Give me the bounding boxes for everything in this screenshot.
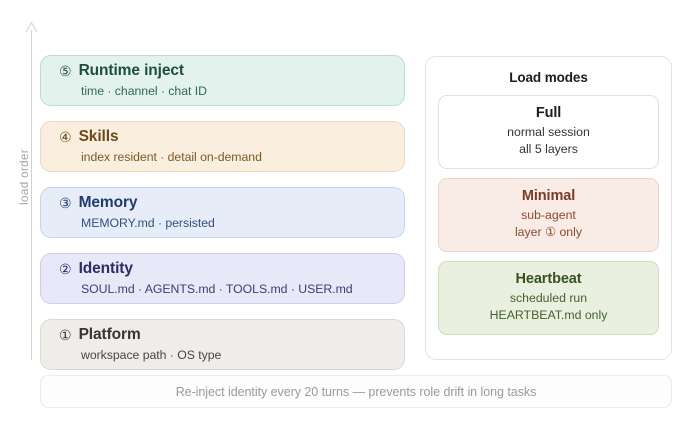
- layers-list: ⑤ Runtime inject time · channel · chat I…: [40, 55, 405, 385]
- load-order-axis: load order: [10, 22, 44, 360]
- layer-title: Skills: [79, 129, 119, 145]
- layer-subtitle: workspace path · OS type: [81, 348, 404, 362]
- layer-subtitle: time · channel · chat ID: [81, 84, 404, 98]
- layer-card-identity[interactable]: ② Identity SOUL.md · AGENTS.md · TOOLS.m…: [40, 253, 405, 304]
- layer-stack-diagram: load order ⑤ Runtime inject time · chann…: [0, 0, 690, 425]
- layer-header: ① Platform: [59, 327, 404, 343]
- arrow-up-icon: [25, 22, 38, 33]
- mode-title: Full: [439, 105, 658, 121]
- mode-line-2: all 5 layers: [439, 142, 658, 156]
- layer-number-badge: ⑤: [59, 64, 72, 78]
- layer-card-runtime-inject[interactable]: ⑤ Runtime inject time · channel · chat I…: [40, 55, 405, 106]
- mode-card-minimal[interactable]: Minimal sub-agent layer ① only: [438, 178, 659, 252]
- axis-line: [31, 30, 32, 360]
- mode-line-1: sub-agent: [439, 208, 658, 222]
- footer-note-text: Re-inject identity every 20 turns — prev…: [176, 385, 537, 399]
- layer-subtitle: MEMORY.md · persisted: [81, 216, 404, 230]
- layer-card-skills[interactable]: ④ Skills index resident · detail on-dema…: [40, 121, 405, 172]
- mode-card-full[interactable]: Full normal session all 5 layers: [438, 95, 659, 169]
- mode-line-1: scheduled run: [439, 291, 658, 305]
- layer-title: Memory: [79, 195, 138, 211]
- load-modes-list: Full normal session all 5 layers Minimal…: [426, 95, 671, 335]
- layer-header: ④ Skills: [59, 129, 404, 145]
- layer-subtitle: SOUL.md · AGENTS.md · TOOLS.md · USER.md: [81, 282, 404, 296]
- mode-line-2: layer ① only: [439, 225, 658, 239]
- layer-header: ③ Memory: [59, 195, 404, 211]
- footer-note: Re-inject identity every 20 turns — prev…: [40, 375, 672, 408]
- mode-card-heartbeat[interactable]: Heartbeat scheduled run HEARTBEAT.md onl…: [438, 261, 659, 335]
- layer-title: Identity: [79, 261, 133, 277]
- layer-title: Platform: [79, 327, 141, 343]
- layer-number-badge: ③: [59, 196, 72, 210]
- layer-header: ② Identity: [59, 261, 404, 277]
- mode-title: Minimal: [439, 188, 658, 204]
- layer-number-badge: ①: [59, 328, 72, 342]
- layer-header: ⑤ Runtime inject: [59, 63, 404, 79]
- axis-label: load order: [17, 117, 31, 237]
- load-modes-title: Load modes: [426, 70, 671, 85]
- layer-number-badge: ④: [59, 130, 72, 144]
- mode-title: Heartbeat: [439, 271, 658, 287]
- layer-card-memory[interactable]: ③ Memory MEMORY.md · persisted: [40, 187, 405, 238]
- layer-number-badge: ②: [59, 262, 72, 276]
- mode-line-1: normal session: [439, 125, 658, 139]
- layer-subtitle: index resident · detail on-demand: [81, 150, 404, 164]
- load-modes-panel: Load modes Full normal session all 5 lay…: [425, 56, 672, 360]
- mode-line-2: HEARTBEAT.md only: [439, 308, 658, 322]
- layer-title: Runtime inject: [79, 63, 184, 79]
- layer-card-platform[interactable]: ① Platform workspace path · OS type: [40, 319, 405, 370]
